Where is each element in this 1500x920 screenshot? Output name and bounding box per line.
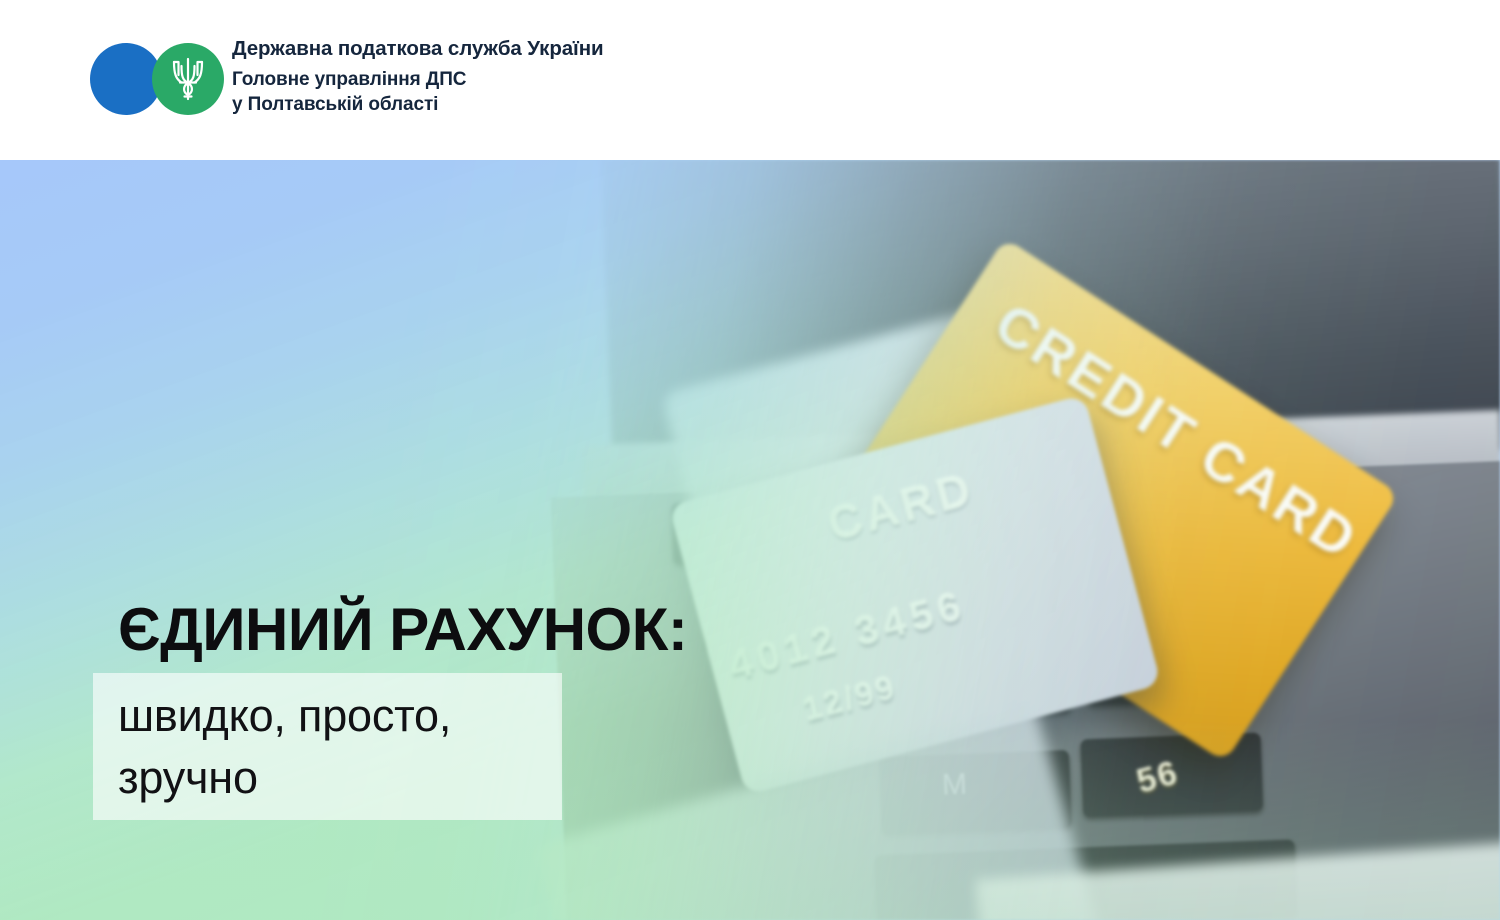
org-line-3: у Полтавській області — [232, 92, 604, 117]
hero-copy: ЄДИНИЙ РАХУНОК: швидко, просто, зручно — [0, 160, 1500, 920]
hero-subline-2: зручно — [118, 747, 558, 809]
org-line-2: Головне управління ДПС — [232, 67, 604, 92]
logo-marks — [90, 37, 220, 117]
organization-logo: Державна податкова служба України Головн… — [90, 37, 604, 117]
banner-root: Державна податкова служба України Головн… — [0, 0, 1500, 920]
org-line-1: Державна податкова служба України — [232, 37, 604, 61]
organization-name: Державна податкова служба України Головн… — [232, 37, 604, 117]
hero-subline-1: швидко, просто, — [118, 685, 558, 747]
page-header: Державна податкова служба України Головн… — [0, 0, 1500, 160]
green-circle-icon — [152, 43, 224, 115]
hero-section: & | A J M CREDIT CARD CARD 4012 3456 12/… — [0, 160, 1500, 920]
ukraine-trident-icon — [168, 56, 208, 102]
hero-subline: швидко, просто, зручно — [118, 685, 558, 809]
hero-headline: ЄДИНИЙ РАХУНОК: — [118, 600, 687, 660]
